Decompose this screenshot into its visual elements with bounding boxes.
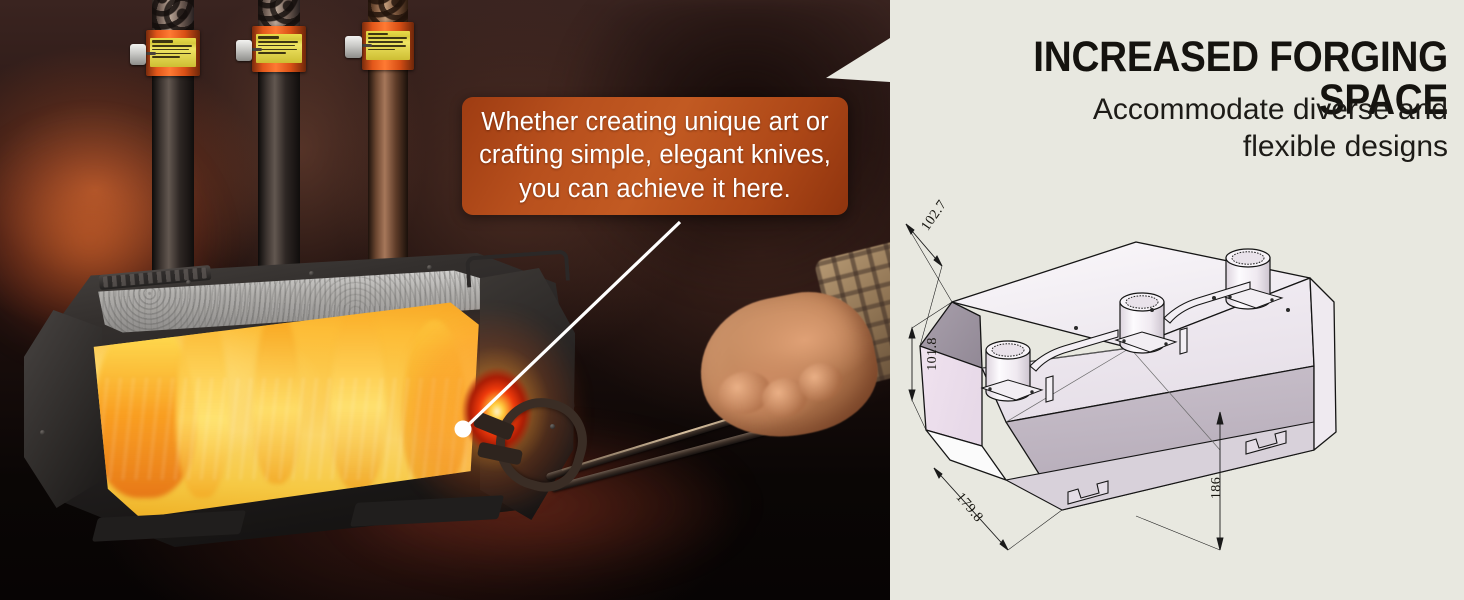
forge-photo-panel: Whether creating unique art or crafting … [0,0,890,600]
burner-body [258,38,300,284]
burner-body [368,34,408,280]
cad-drawing: 102.7 101.8 179.8 186 [890,150,1464,600]
forge-left-panel [24,310,102,508]
info-panel: INCREASED FORGING SPACE Accommodate dive… [890,0,1464,600]
caution-label [150,38,195,67]
callout-line-1: Whether creating unique art or [479,106,831,139]
forge-bolt [186,280,191,285]
callout-line-3: you can achieve it here. [479,173,831,206]
callout-text: Whether creating unique art or crafting … [465,106,845,205]
dimension-label-length: 186 [1209,477,1225,499]
product-banner: Whether creating unique art or crafting … [0,0,1464,600]
burner-tube-2 [258,0,300,278]
burner-tube-1 [152,0,194,286]
forge-solid-body [920,242,1336,510]
subtitle-line-1: Accommodate diverse and [908,92,1448,129]
burner-adjust-knob[interactable] [345,36,362,58]
forge-body [18,250,578,550]
cad-svg [890,150,1464,600]
burner-tube-3 [368,0,408,274]
dimension-label-height: 101.8 [925,337,941,371]
caution-label [366,31,410,61]
forge-bolt [427,265,432,270]
caution-label [256,34,301,63]
burner-adjust-knob[interactable] [236,40,252,61]
forge-handle[interactable] [465,249,570,287]
callout-line-2: crafting simple, elegant knives, [479,139,831,172]
callout-box: Whether creating unique art or crafting … [462,97,848,215]
burner-adjust-knob[interactable] [130,44,146,65]
